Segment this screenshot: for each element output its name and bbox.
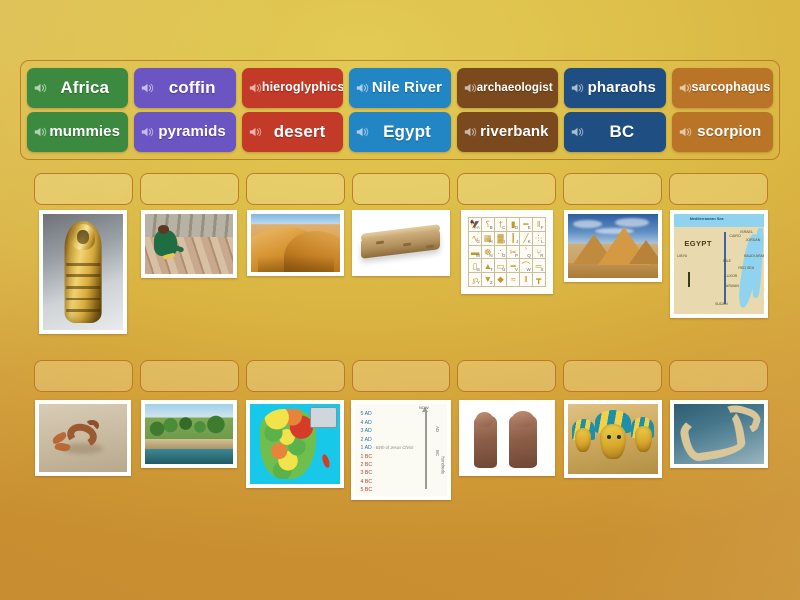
map-label: CAIRO [729, 234, 740, 238]
map-label: SUDAN [715, 302, 728, 306]
pyramids-image[interactable] [564, 210, 662, 282]
speaker-icon [141, 82, 154, 95]
hieroglyph-cell: ‖ [520, 273, 533, 287]
image-cell [563, 210, 662, 282]
answer-slot[interactable] [34, 360, 133, 392]
image-cell: 5 AD 4 AD 3 AD 2 AD 1 AD - Birth of Jesu… [351, 400, 451, 500]
map-label: NILE [723, 259, 731, 263]
image-cell [34, 210, 133, 334]
image-cell [458, 400, 557, 476]
hieroglyph-cell: ◆ [495, 273, 508, 287]
timeline-bc-label: BC [435, 450, 440, 456]
hieroglyph-key: W [527, 268, 531, 273]
map-label: LIBYA [677, 254, 687, 258]
word-tile-riverbank[interactable]: riverbank [457, 112, 558, 152]
map-sea-label: Mediterranean Sea [690, 217, 724, 221]
hieroglyph-cell: 🦅A [469, 218, 482, 232]
speaker-icon [141, 126, 154, 139]
hieroglyph-cell: ∴O [495, 246, 508, 260]
hieroglyph-key: B [490, 226, 493, 231]
hieroglyph-cell: ▮D [507, 218, 520, 232]
image-cell [352, 210, 451, 276]
speaker-icon [356, 82, 369, 95]
answer-slot[interactable] [34, 173, 133, 205]
hieroglyph-cell: ⸮B [482, 218, 495, 232]
hieroglyph-cell: ‖F [533, 218, 546, 232]
word-tile-pharaohs[interactable]: pharaohs [564, 68, 665, 108]
timeline-entry: 4 BC [361, 478, 414, 486]
hieroglyph-key: O [502, 254, 506, 259]
timeline-year: 5 BC [361, 487, 373, 493]
hieroglyph-cell: ▦H [482, 232, 495, 246]
hieroglyph-key: S [477, 268, 480, 273]
sarcophagus-image[interactable] [39, 210, 127, 334]
africa-map-image[interactable] [246, 400, 344, 488]
hieroglyph-cell: ▬M [469, 246, 482, 260]
hieroglyph-cell: ✂P [507, 246, 520, 260]
hieroglyph-symbol: ▓ [497, 234, 503, 243]
hieroglyph-cell: ╱K [520, 232, 533, 246]
timeline-year: 4 BC [361, 479, 373, 485]
answer-slot[interactable] [669, 360, 768, 392]
image-cell [140, 400, 239, 468]
hieroglyph-cell: ━V [507, 259, 520, 273]
timeline-side-label: hundreds [440, 456, 445, 473]
hieroglyph-cell: ┳ [533, 273, 546, 287]
timeline-entry: 5 AD [361, 410, 414, 418]
image-cell [246, 210, 345, 276]
hieroglyph-cell: ▭U [495, 259, 508, 273]
hieroglyph-key: H [489, 240, 492, 245]
hieroglyphics-image[interactable]: 🦅A⸮B†C▮D━E‖F∿G▦H▓I┃J╱K⸭L▬M☸N∴O✂PⸯQ⑂R▯S▲T… [461, 210, 553, 294]
timeline-entry: 2 AD [361, 436, 414, 444]
timeline-ad-label: AD [435, 426, 440, 432]
word-tile-mummies[interactable]: mummies [27, 112, 128, 152]
hieroglyph-key: P [515, 254, 518, 259]
answer-slot[interactable] [140, 173, 239, 205]
answer-slot[interactable] [352, 360, 451, 392]
hieroglyph-cell: ▯S [469, 259, 482, 273]
word-tile-desert[interactable]: desert [242, 112, 343, 152]
map-label: ISRAEL [740, 230, 753, 234]
speaker-icon [249, 126, 262, 139]
speaker-icon [571, 126, 584, 139]
hieroglyph-key: A [477, 226, 480, 231]
hieroglyph-key: N [489, 254, 492, 259]
image-cell: Mediterranean SeaEGYPTLIBYAISRAELJORDANS… [669, 210, 768, 318]
hieroglyph-key: R [540, 254, 543, 259]
speaker-icon [34, 82, 47, 95]
matching-activity-board: AfricacoffinhieroglyphicsNile Riverarcha… [0, 0, 800, 600]
map-country-label: EGYPT [684, 239, 711, 248]
timeline-note: - Birth of Jesus Christ [373, 445, 413, 450]
answer-slot[interactable] [246, 173, 345, 205]
hieroglyph-key: J [516, 240, 518, 245]
speaker-icon [679, 126, 692, 139]
hieroglyph-cell: ┃J [507, 232, 520, 246]
pharaohs-image[interactable] [564, 400, 662, 478]
speaker-icon [679, 82, 692, 95]
hieroglyph-cell: ═X [533, 259, 546, 273]
image-cell [34, 400, 133, 476]
answer-slot[interactable] [352, 173, 451, 205]
timeline-entry: 4 AD [361, 419, 414, 427]
word-tile-sarcophagus[interactable]: sarcophagus [672, 68, 773, 108]
image-cell [669, 400, 768, 468]
answer-slot[interactable] [457, 360, 556, 392]
hieroglyph-cell: ≈ [507, 273, 520, 287]
timeline-entry: 5 BC [361, 486, 414, 494]
speaker-icon [356, 126, 369, 139]
hieroglyph-cell: ▓I [495, 232, 508, 246]
hieroglyph-key: K [528, 240, 531, 245]
hieroglyph-cell: ⑂R [533, 246, 546, 260]
word-bank-row-2: mummiespyramidsdesertEgyptriverbankBCsco… [27, 112, 773, 152]
answer-slot[interactable] [669, 173, 768, 205]
word-bank: AfricacoffinhieroglyphicsNile Riverarcha… [20, 60, 780, 160]
hieroglyph-cell: †C [495, 218, 508, 232]
hieroglyph-key: U [502, 268, 505, 273]
archaeologist-image[interactable] [141, 210, 237, 278]
timeline-year: 1 AD [361, 445, 372, 451]
hieroglyph-cell: ☸N [482, 246, 495, 260]
answer-slot[interactable] [563, 173, 662, 205]
timeline-year: 1 BC [361, 454, 373, 460]
hieroglyph-key: E [528, 226, 531, 231]
hieroglyph-key: F [541, 226, 544, 231]
hieroglyph-cell: ▼Z [482, 273, 495, 287]
hieroglyph-symbol: ◆ [497, 275, 504, 284]
timeline-entry: 3 AD [361, 427, 414, 435]
timeline-year: 3 BC [361, 470, 373, 476]
map-label: RED SEA [738, 266, 754, 270]
speaker-icon [249, 82, 262, 95]
speaker-icon [571, 82, 584, 95]
timeline-year: 5 AD [361, 411, 372, 417]
timeline-entry: 1 AD - Birth of Jesus Christ [361, 444, 414, 452]
image-cell: 🦅A⸮B†C▮D━E‖F∿G▦H▓I┃J╱K⸭L▬M☸N∴O✂PⸯQ⑂R▯S▲T… [457, 210, 556, 294]
answer-row-2 [34, 360, 768, 392]
timeline-year: 2 AD [361, 437, 372, 443]
timeline-year: 4 AD [361, 420, 372, 426]
hieroglyph-symbol: ≈ [511, 275, 516, 284]
hieroglyph-key: X [540, 268, 543, 273]
word-tile-pyramids[interactable]: pyramids [134, 112, 235, 152]
word-tile-archaeologist[interactable]: archaeologist [457, 68, 558, 108]
image-row-2: 5 AD 4 AD 3 AD 2 AD 1 AD - Birth of Jesu… [34, 400, 768, 520]
hieroglyph-symbol: ‖ [524, 275, 528, 284]
timeline-now-label: NOW [419, 405, 429, 410]
answer-slot[interactable] [563, 360, 662, 392]
hieroglyph-key: Z [490, 281, 493, 286]
hieroglyph-key: G [476, 240, 480, 245]
coffin-image[interactable] [352, 210, 450, 276]
hieroglyph-key: Q [527, 254, 531, 259]
timeline-image[interactable]: 5 AD 4 AD 3 AD 2 AD 1 AD - Birth of Jesu… [351, 400, 451, 500]
hieroglyph-key: T [490, 268, 493, 273]
hieroglyph-cell: ℘Y [469, 273, 482, 287]
hieroglyph-cell: ▲T [482, 259, 495, 273]
hieroglyph-cell: ⸯQ [520, 246, 533, 260]
map-label: ASWAN [726, 284, 739, 288]
hieroglyph-key: D [515, 226, 518, 231]
hieroglyph-key: I [504, 240, 505, 245]
timeline-list: 5 AD 4 AD 3 AD 2 AD 1 AD - Birth of Jesu… [361, 410, 414, 494]
hieroglyph-key: V [515, 268, 518, 273]
hieroglyph-key: Y [477, 281, 480, 286]
word-tile-egypt[interactable]: Egypt [349, 112, 450, 152]
hieroglyph-cell: ⸭L [533, 232, 546, 246]
speaker-icon [34, 126, 47, 139]
timeline-entry: 1 BC [361, 453, 414, 461]
answer-row-1 [34, 173, 768, 205]
answer-slot[interactable] [246, 360, 345, 392]
hieroglyph-key: M [476, 254, 480, 259]
hieroglyph-cell: ━E [520, 218, 533, 232]
nile-river-image[interactable] [670, 400, 768, 468]
scorpion-image[interactable] [35, 400, 131, 476]
desert-image[interactable] [247, 210, 344, 276]
timeline-year: 3 AD [361, 428, 372, 434]
timeline-entry: 2 BC [361, 461, 414, 469]
image-cell [245, 400, 344, 488]
map-label: LUXOR [725, 274, 737, 278]
word-tile-bc[interactable]: BC [564, 112, 665, 152]
timeline-entry: 3 BC [361, 469, 414, 477]
image-cell [140, 210, 239, 278]
egypt-map-image[interactable]: Mediterranean SeaEGYPTLIBYAISRAELJORDANS… [670, 210, 768, 318]
hieroglyph-key: C [502, 226, 505, 231]
speaker-icon [464, 82, 477, 95]
word-tile-hieroglyphics[interactable]: hieroglyphics [242, 68, 343, 108]
word-tile-scorpion[interactable]: scorpion [672, 112, 773, 152]
answer-slot[interactable] [457, 173, 556, 205]
word-tile-africa[interactable]: Africa [27, 68, 128, 108]
word-tile-coffin[interactable]: coffin [134, 68, 235, 108]
mummies-image[interactable] [459, 400, 555, 476]
map-label: JORDAN [746, 238, 761, 242]
hieroglyph-symbol: ┳ [536, 275, 541, 284]
image-cell [564, 400, 663, 478]
hieroglyph-cell: ∿G [469, 232, 482, 246]
hieroglyph-key: L [541, 240, 544, 245]
speaker-icon [464, 126, 477, 139]
word-tile-nile-river[interactable]: Nile River [349, 68, 450, 108]
timeline-year: 2 BC [361, 462, 373, 468]
map-label: SAUDI ARABIA [744, 254, 764, 258]
hieroglyph-cell: ⌒W [520, 259, 533, 273]
riverbank-image[interactable] [141, 400, 237, 468]
answer-slot[interactable] [140, 360, 239, 392]
image-row-1: 🦅A⸮B†C▮D━E‖F∿G▦H▓I┃J╱K⸭L▬M☸N∴O✂PⸯQ⑂R▯S▲T… [34, 210, 768, 340]
word-bank-row-1: AfricacoffinhieroglyphicsNile Riverarcha… [27, 68, 773, 108]
